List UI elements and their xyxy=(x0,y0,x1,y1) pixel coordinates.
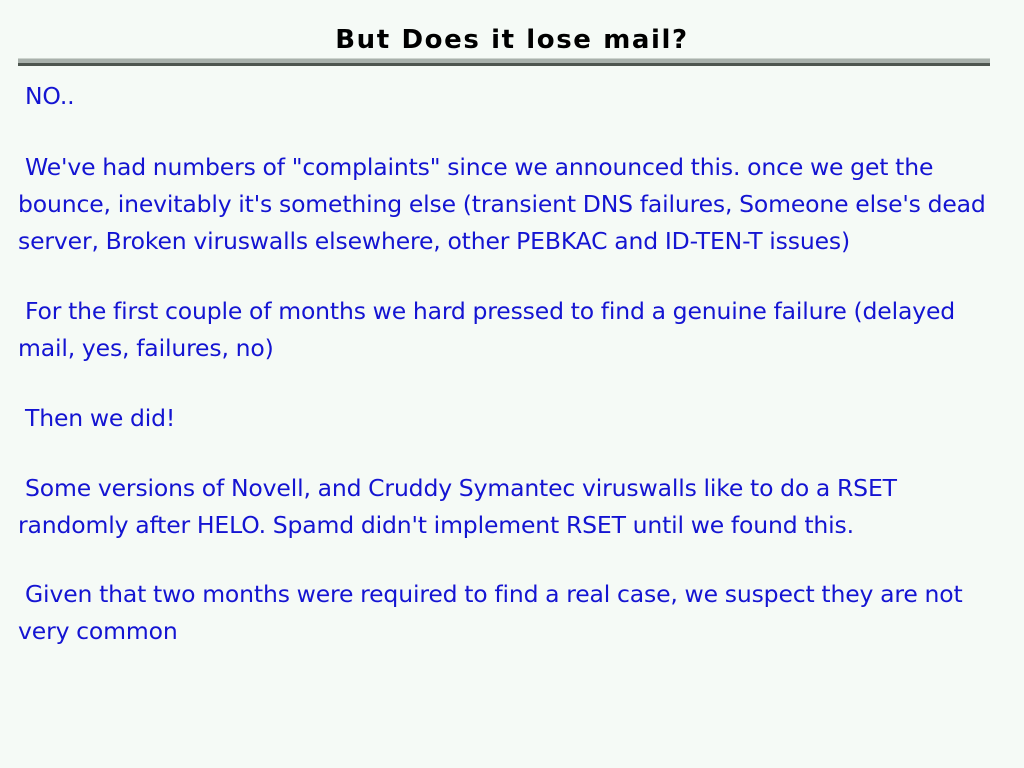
slide-title: But Does it lose mail? xyxy=(0,25,1024,55)
slide-paragraph-complaints: We've had numbers of "complaints" since … xyxy=(18,149,988,260)
slide-paragraph-then-we-did: Then we did! xyxy=(18,400,988,437)
slide-paragraph-first-months: For the first couple of months we hard p… xyxy=(18,293,988,367)
slide-paragraph-novell-symantec: Some versions of Novell, and Cruddy Syma… xyxy=(18,470,988,544)
divider-shadow-line xyxy=(18,63,990,66)
slide-paragraph-conclusion: Given that two months were required to f… xyxy=(18,576,988,650)
slide-body: NO.. We've had numbers of "complaints" s… xyxy=(18,70,988,650)
title-divider-rule xyxy=(18,58,990,66)
slide-paragraph-answer: NO.. xyxy=(18,78,988,115)
presentation-slide: But Does it lose mail? NO.. We've had nu… xyxy=(0,0,1024,768)
